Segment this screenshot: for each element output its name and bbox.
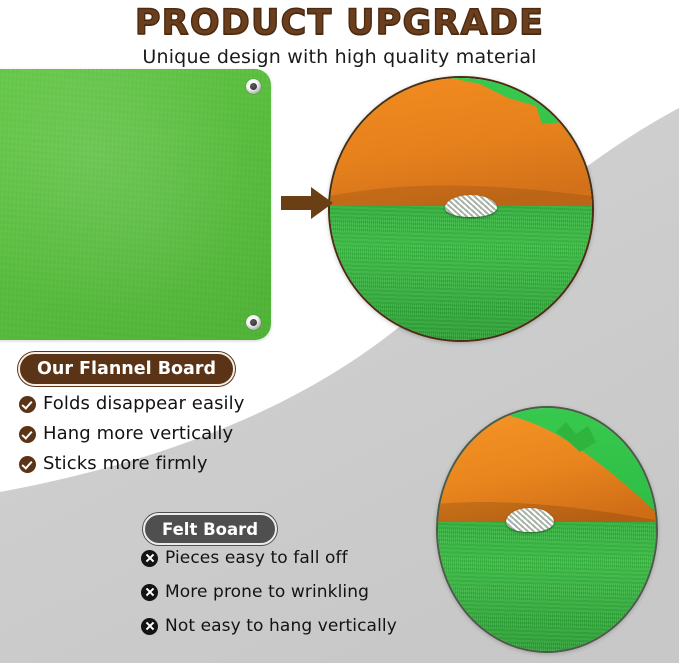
header: PRODUCT UPGRADE Unique design with high …	[0, 0, 679, 69]
list-item: More prone to wrinkling	[141, 581, 397, 603]
grommet-icon	[246, 79, 261, 94]
check-circle-icon	[19, 426, 36, 443]
list-item: Not easy to hang vertically	[141, 615, 397, 637]
flannel-benefits-list: Folds disappear easily Hang more vertica…	[19, 393, 245, 483]
velcro-pad-icon	[445, 195, 497, 217]
arrow-right-icon	[281, 185, 333, 221]
cross-circle-icon	[141, 584, 158, 601]
page-subtitle: Unique design with high quality material	[0, 45, 679, 69]
page-title: PRODUCT UPGRADE	[0, 3, 679, 43]
cross-circle-icon	[141, 550, 158, 567]
product-upgrade-infographic: PRODUCT UPGRADE Unique design with high …	[0, 0, 679, 663]
board-texture	[0, 69, 271, 340]
list-item-label: Folds disappear easily	[43, 393, 245, 415]
list-item-label: Hang more vertically	[43, 423, 233, 445]
check-circle-icon	[19, 396, 36, 413]
felt-drawbacks-list: Pieces easy to fall off More prone to wr…	[141, 547, 397, 649]
cross-circle-icon	[141, 618, 158, 635]
felt-board-closeup	[436, 406, 658, 653]
closeup-green-board-surface	[330, 206, 592, 340]
list-item: Folds disappear easily	[19, 393, 245, 415]
list-item: Hang more vertically	[19, 423, 245, 445]
list-item-label: Pieces easy to fall off	[165, 547, 348, 569]
flannel-board-badge: Our Flannel Board	[18, 352, 235, 386]
felt-board-badge: Felt Board	[143, 513, 277, 545]
green-flannel-board-image	[0, 69, 271, 340]
list-item-label: Not easy to hang vertically	[165, 615, 397, 637]
flannel-board-closeup	[328, 76, 594, 342]
check-circle-icon	[19, 456, 36, 473]
grommet-icon	[246, 315, 261, 330]
list-item: Pieces easy to fall off	[141, 547, 397, 569]
list-item-label: More prone to wrinkling	[165, 581, 369, 603]
velcro-pad-icon	[506, 508, 554, 532]
closeup-green-board-surface	[438, 522, 656, 651]
list-item-label: Sticks more firmly	[43, 453, 208, 475]
list-item: Sticks more firmly	[19, 453, 245, 475]
